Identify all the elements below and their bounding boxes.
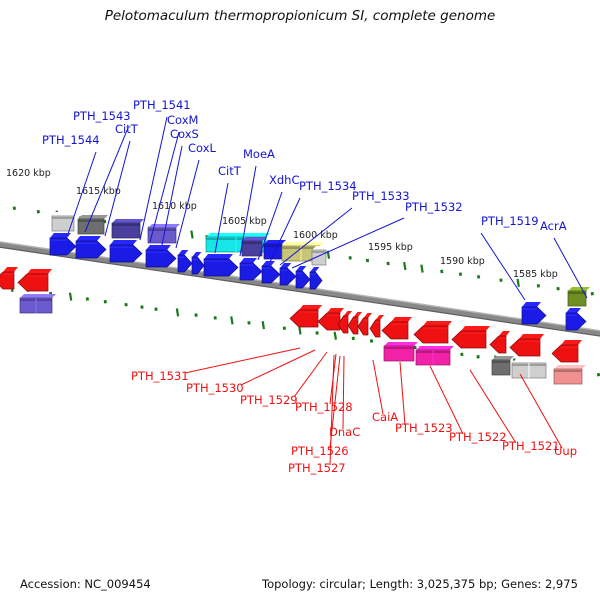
gene-forward[interactable]: [146, 224, 180, 267]
forward-gene-label[interactable]: PTH_1532: [405, 200, 463, 214]
gene-reverse[interactable]: [0, 267, 18, 289]
scale-label: 1620 kbp: [6, 168, 51, 179]
forward-gene-leader: [481, 233, 525, 300]
forward-label-leaders: [68, 117, 587, 300]
forward-gene-label[interactable]: PTH_1519: [481, 214, 539, 228]
reverse-gene-label[interactable]: PTH_1530: [186, 381, 244, 395]
reverse-gene-labels: PTH_1531PTH_1530PTH_1529PTH_1528DnaCPTH_…: [131, 369, 577, 475]
reverse-gene-leader: [520, 374, 562, 448]
topology-text: Topology: circular; Length: 3,025,375 bp…: [262, 577, 578, 591]
forward-gene-label[interactable]: PTH_1534: [299, 179, 357, 193]
gene-reverse[interactable]: [452, 326, 490, 348]
reverse-gene-label[interactable]: PTH_1526: [291, 444, 349, 458]
reverse-gene-leader: [294, 352, 327, 397]
reverse-gene-label[interactable]: PTH_1527: [288, 461, 346, 475]
accession-text: Accession: NC_009454: [20, 577, 151, 591]
gene-reverse[interactable]: [490, 331, 514, 375]
gene-reverse[interactable]: [414, 321, 454, 365]
reverse-gene-label[interactable]: PTH_1522: [449, 430, 507, 444]
reverse-gene-leader: [185, 348, 300, 373]
forward-gene-label[interactable]: MoeA: [243, 147, 275, 161]
genome-map-canvas[interactable]: 1620 kbp1615 kbp1610 kbp1605 kbp1600 kbp…: [0, 0, 600, 600]
scale-label: 1600 kbp: [293, 230, 338, 241]
forward-gene-label[interactable]: XdhC: [269, 173, 300, 187]
gene-forward[interactable]: [522, 302, 546, 324]
gene-forward[interactable]: [296, 266, 310, 288]
gene-reverse[interactable]: [18, 269, 56, 313]
gene-forward[interactable]: [178, 250, 192, 272]
gene-reverse[interactable]: [290, 305, 322, 327]
gene-forward[interactable]: [110, 219, 144, 262]
forward-gene-label[interactable]: PTH_1544: [42, 133, 100, 147]
reverse-gene-label[interactable]: PTH_1529: [240, 393, 298, 407]
reverse-gene-label[interactable]: PTH_1521: [502, 439, 560, 453]
reverse-gene-label[interactable]: PTH_1528: [295, 400, 353, 414]
reverse-gene-leader: [373, 360, 383, 414]
forward-gene-labels: PTH_1544PTH_1543CitTPTH_1541CoxMCoxSCoxL…: [42, 98, 567, 233]
gene-reverse[interactable]: [358, 313, 372, 335]
forward-gene-leader: [140, 117, 167, 240]
forward-gene-label[interactable]: PTH_1541: [133, 98, 191, 112]
scale-label: 1595 kbp: [368, 242, 413, 253]
scale-label: 1585 kbp: [513, 269, 558, 280]
forward-gene-label[interactable]: CoxL: [188, 141, 217, 155]
gene-forward[interactable]: [566, 287, 590, 330]
genome-map-viewer: Pelotomaculum thermopropionicum SI, comp…: [0, 0, 600, 600]
reverse-gene-label[interactable]: Uup: [554, 444, 577, 458]
scale-label: 1605 kbp: [222, 216, 267, 227]
scale-label: 1590 kbp: [440, 256, 485, 267]
reverse-gene-label[interactable]: DnaC: [329, 425, 360, 439]
forward-gene-label[interactable]: CoxM: [167, 113, 198, 127]
reverse-gene-label[interactable]: PTH_1531: [131, 369, 189, 383]
forward-gene-label[interactable]: CitT: [218, 164, 242, 178]
reverse-gene-leader: [241, 350, 315, 385]
forward-gene-label[interactable]: PTH_1543: [73, 109, 131, 123]
reverse-gene-leader: [400, 362, 405, 425]
gene-forward[interactable]: [76, 215, 108, 258]
forward-gene-label[interactable]: AcrA: [540, 219, 567, 233]
gene-reverse[interactable]: [510, 334, 550, 378]
forward-gene-label[interactable]: PTH_1533: [352, 189, 410, 203]
reverse-gene-label[interactable]: PTH_1523: [395, 421, 453, 435]
gene-reverse[interactable]: [370, 315, 384, 337]
reverse-gene-leader: [343, 356, 344, 429]
gene-reverse[interactable]: [552, 340, 586, 384]
gene-forward[interactable]: [192, 252, 204, 274]
forward-gene-label[interactable]: CoxS: [170, 127, 199, 141]
gene-reverse[interactable]: [382, 317, 418, 361]
forward-gene-label[interactable]: CitT: [115, 122, 139, 136]
